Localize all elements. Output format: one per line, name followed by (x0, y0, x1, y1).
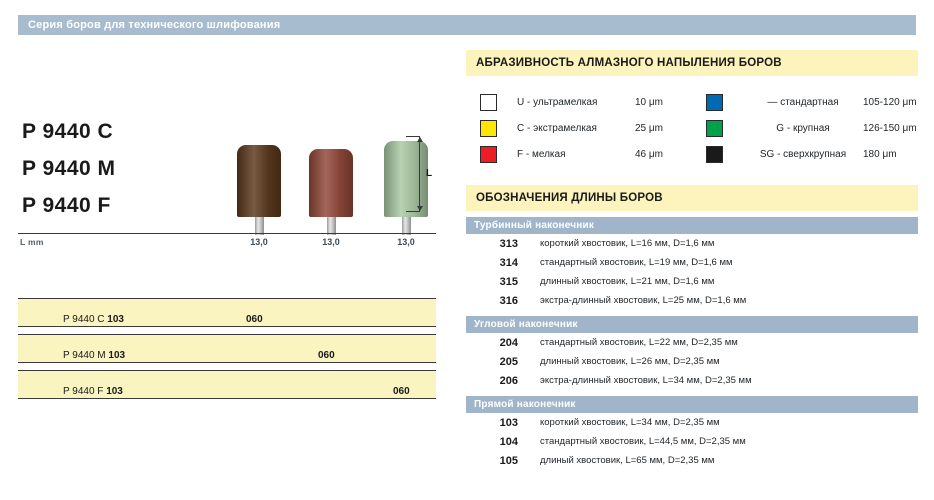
bur-red-brown-head (309, 149, 353, 217)
product-row-size-c: 060 (246, 314, 263, 325)
legend-label-extrafine: C - экстрамелкая (517, 123, 635, 134)
product-code-c: P 9440 C (22, 120, 222, 144)
length-desc-316: экстра-длинный хвостовик, L=25 мм, D=1,6… (540, 295, 746, 306)
length-desc-205: длинный хвостовик, L=26 мм, D=2,35 мм (540, 356, 720, 367)
list-item: U - ультрамелкая 10 μm (466, 89, 692, 115)
length-code-314: 314 (466, 257, 518, 269)
product-order-table: P 9440 C 103 060 P 9440 M 103 060 P 9440… (18, 298, 436, 399)
table-row[interactable]: P 9440 F 103 060 (18, 370, 436, 399)
swatch-coarse-icon (706, 120, 723, 137)
legend-value-ultrafine: 10 μm (635, 97, 663, 108)
length-code-205: 205 (466, 356, 518, 368)
dimension-arrow-down-icon (417, 206, 423, 211)
list-item: 315 длинный хвостовик, L=21 мм, D=1,6 мм (466, 272, 918, 291)
swatch-fine-icon (480, 146, 497, 163)
table-row[interactable]: P 9440 M 103 060 (18, 334, 436, 363)
legend-value-fine: 46 μm (635, 149, 663, 160)
dimension-label: L (426, 168, 432, 179)
list-item: 314 стандартный хвостовик, L=19 мм, D=1,… (466, 253, 918, 272)
legend-column-left: U - ультрамелкая 10 μm C - экстрамелкая … (466, 89, 692, 167)
legend-value-extrafine: 25 μm (635, 123, 663, 134)
abrasiveness-legend: U - ультрамелкая 10 μm C - экстрамелкая … (466, 89, 918, 167)
product-code-f: P 9440 F (22, 194, 222, 218)
length-desc-204: стандартный хвостовик, L=22 мм, D=2,35 м… (540, 337, 738, 348)
lengths-header: ОБОЗНАЧЕНИЯ ДЛИНЫ БОРОВ (466, 185, 918, 211)
list-item: 205 длинный хвостовик, L=26 мм, D=2,35 м… (466, 352, 918, 371)
list-item: 206 экстра-длинный хвостовик, L=34 мм, D… (466, 371, 918, 390)
product-row-name-m: P 9440 M 103 (63, 350, 125, 361)
bur-brown-head (237, 145, 281, 217)
list-item: F - мелкая 46 μm (466, 141, 692, 167)
length-desc-315: длинный хвостовик, L=21 мм, D=1,6 мм (540, 276, 714, 287)
product-code-m: P 9440 M (22, 157, 222, 181)
length-code-315: 315 (466, 276, 518, 288)
dimension-line (419, 136, 420, 212)
bur-red-brown (309, 149, 353, 235)
length-axis-label: L mm (20, 237, 44, 247)
lengths-title: ОБОЗНАЧЕНИЯ ДЛИНЫ БОРОВ (476, 192, 663, 204)
list-item: 105 длиный хвостовик, L=65 мм, D=2,35 мм (466, 451, 918, 470)
swatch-extrafine-icon (480, 120, 497, 137)
length-desc-314: стандартный хвостовик, L=19 мм, D=1,6 мм (540, 257, 733, 268)
list-item: C - экстрамелкая 25 μm (466, 115, 692, 141)
group-label-turbine: Турбинный наконечник (474, 220, 594, 231)
dimension-arrow-up-icon (417, 137, 423, 142)
list-item: SG - сверхкрупная 180 μm (692, 141, 918, 167)
length-code-204: 204 (466, 337, 518, 349)
length-dimension-marker: L (412, 136, 438, 212)
length-code-103: 103 (466, 417, 518, 429)
abrasiveness-header: АБРАЗИВНОСТЬ АЛМАЗНОГО НАПЫЛЕНИЯ БОРОВ (466, 50, 918, 76)
bur-length-brown: 13,0 (237, 237, 281, 247)
dimension-tick-bottom (406, 211, 420, 212)
list-item: 316 экстра-длинный хвостовик, L=25 мм, D… (466, 291, 918, 310)
bur-illustration-group (225, 130, 440, 235)
length-desc-103: короткий хвостовик, L=34 мм, D=2,35 мм (540, 417, 720, 428)
list-item: G - крупная 126-150 μm (692, 115, 918, 141)
length-code-313: 313 (466, 238, 518, 250)
group-header-straight: Прямой наконечник (466, 396, 918, 413)
swatch-standard-icon (706, 94, 723, 111)
length-desc-105: длиный хвостовик, L=65 мм, D=2,35 мм (540, 455, 714, 466)
legend-value-standard: 105-120 μm (863, 97, 917, 108)
bur-length-green: 13,0 (384, 237, 428, 247)
product-row-size-f: 060 (393, 386, 410, 397)
legend-value-coarse: 126-150 μm (863, 123, 917, 134)
legend-value-supercoarse: 180 μm (863, 149, 897, 160)
group-label-straight: Прямой наконечник (474, 399, 576, 410)
product-panel: P 9440 C P 9440 M P 9440 F L L mm 13,0 1… (0, 35, 455, 365)
length-code-206: 206 (466, 375, 518, 387)
list-item: — стандартная 105-120 μm (692, 89, 918, 115)
length-code-104: 104 (466, 436, 518, 448)
product-row-size-m: 060 (318, 350, 335, 361)
table-row[interactable]: P 9440 C 103 060 (18, 298, 436, 327)
list-item: 103 короткий хвостовик, L=34 мм, D=2,35 … (466, 413, 918, 432)
length-desc-206: экстра-длинный хвостовик, L=34 мм, D=2,3… (540, 375, 752, 386)
length-desc-104: стандартный хвостовик, L=44,5 мм, D=2,35… (540, 436, 746, 447)
list-item: 204 стандартный хвостовик, L=22 мм, D=2,… (466, 333, 918, 352)
legend-label-supercoarse: SG - сверхкрупная (743, 149, 863, 160)
bur-length-red-brown: 13,0 (309, 237, 353, 247)
product-row-name-f: P 9440 F 103 (63, 386, 123, 397)
legend-label-coarse: G - крупная (743, 123, 863, 134)
bur-brown (237, 145, 281, 235)
length-code-105: 105 (466, 455, 518, 467)
product-code-list: P 9440 C P 9440 M P 9440 F (22, 120, 222, 231)
abrasiveness-title: АБРАЗИВНОСТЬ АЛМАЗНОГО НАПЫЛЕНИЯ БОРОВ (476, 57, 782, 69)
legend-column-right: — стандартная 105-120 μm G - крупная 126… (692, 89, 918, 167)
reference-panel: АБРАЗИВНОСТЬ АЛМАЗНОГО НАПЫЛЕНИЯ БОРОВ U… (466, 50, 918, 470)
page-title: Серия боров для технического шлифования (18, 19, 280, 31)
legend-label-fine: F - мелкая (517, 149, 635, 160)
group-header-angled: Угловой наконечник (466, 316, 918, 333)
list-item: 104 стандартный хвостовик, L=44,5 мм, D=… (466, 432, 918, 451)
legend-label-standard: — стандартная (743, 97, 863, 108)
group-header-turbine: Турбинный наконечник (466, 217, 918, 234)
measurement-baseline (18, 233, 436, 234)
swatch-ultrafine-icon (480, 94, 497, 111)
length-code-316: 316 (466, 295, 518, 307)
product-row-name-c: P 9440 C 103 (63, 314, 124, 325)
list-item: 313 короткий хвостовик, L=16 мм, D=1,6 м… (466, 234, 918, 253)
length-desc-313: короткий хвостовик, L=16 мм, D=1,6 мм (540, 238, 714, 249)
page-header-bar: Серия боров для технического шлифования (18, 15, 916, 35)
group-label-angled: Угловой наконечник (474, 319, 578, 330)
swatch-supercoarse-icon (706, 146, 723, 163)
legend-label-ultrafine: U - ультрамелкая (517, 97, 635, 108)
